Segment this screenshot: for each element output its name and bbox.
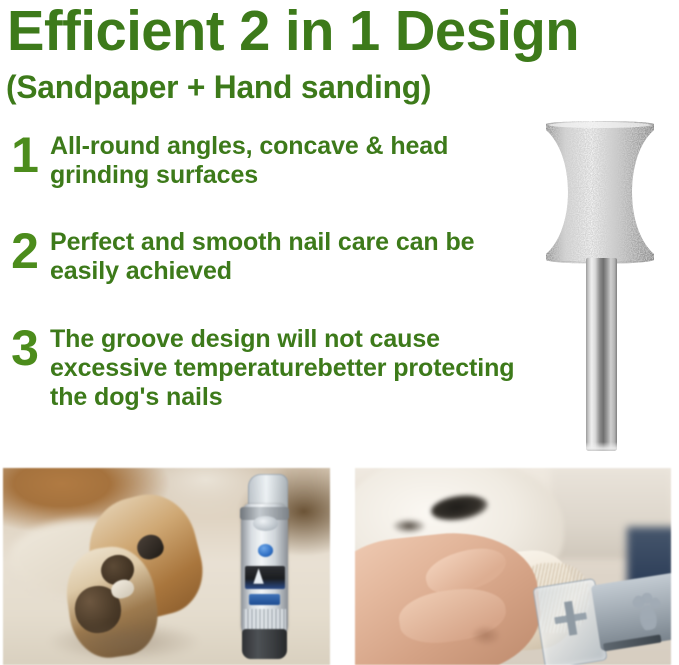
grinder-grip <box>243 609 285 631</box>
feature-text: All-round angles, concave & head grindin… <box>50 128 520 190</box>
list-item: 1 All-round angles, concave & head grind… <box>0 128 530 190</box>
feature-number: 1 <box>0 128 50 180</box>
grinder-bit <box>553 599 590 638</box>
infographic-page: Efficient 2 in 1 Design (Sandpaper + Han… <box>0 0 679 665</box>
feature-number: 2 <box>0 224 50 276</box>
nail-grinder-tool <box>237 474 293 659</box>
photo-grinding-white-dog-nail <box>355 468 671 665</box>
feature-list: 1 All-round angles, concave & head grind… <box>0 128 530 412</box>
paw-shadow <box>49 622 199 661</box>
product-image-grinding-bit <box>524 118 679 458</box>
grinder-brand-label <box>245 566 285 588</box>
page-subtitle: (Sandpaper + Hand sanding) <box>6 68 431 106</box>
feature-number: 3 <box>0 321 50 373</box>
feature-text: Perfect and smooth nail care can be easi… <box>50 224 520 286</box>
grinding-head-icon <box>536 118 664 266</box>
grinding-bit-shank <box>586 258 617 451</box>
feature-text: The groove design will not cause excessi… <box>50 321 520 412</box>
list-item: 2 Perfect and smooth nail care can be ea… <box>0 224 530 286</box>
list-item: 3 The groove design will not cause exces… <box>0 321 530 412</box>
page-title: Efficient 2 in 1 Design <box>7 0 669 64</box>
grinder-speed-switch <box>249 594 280 605</box>
photo-strip <box>0 466 679 665</box>
grinder-base <box>242 629 286 659</box>
dog-nose <box>393 519 425 533</box>
photo-dog-paws-with-grinder <box>3 468 330 665</box>
